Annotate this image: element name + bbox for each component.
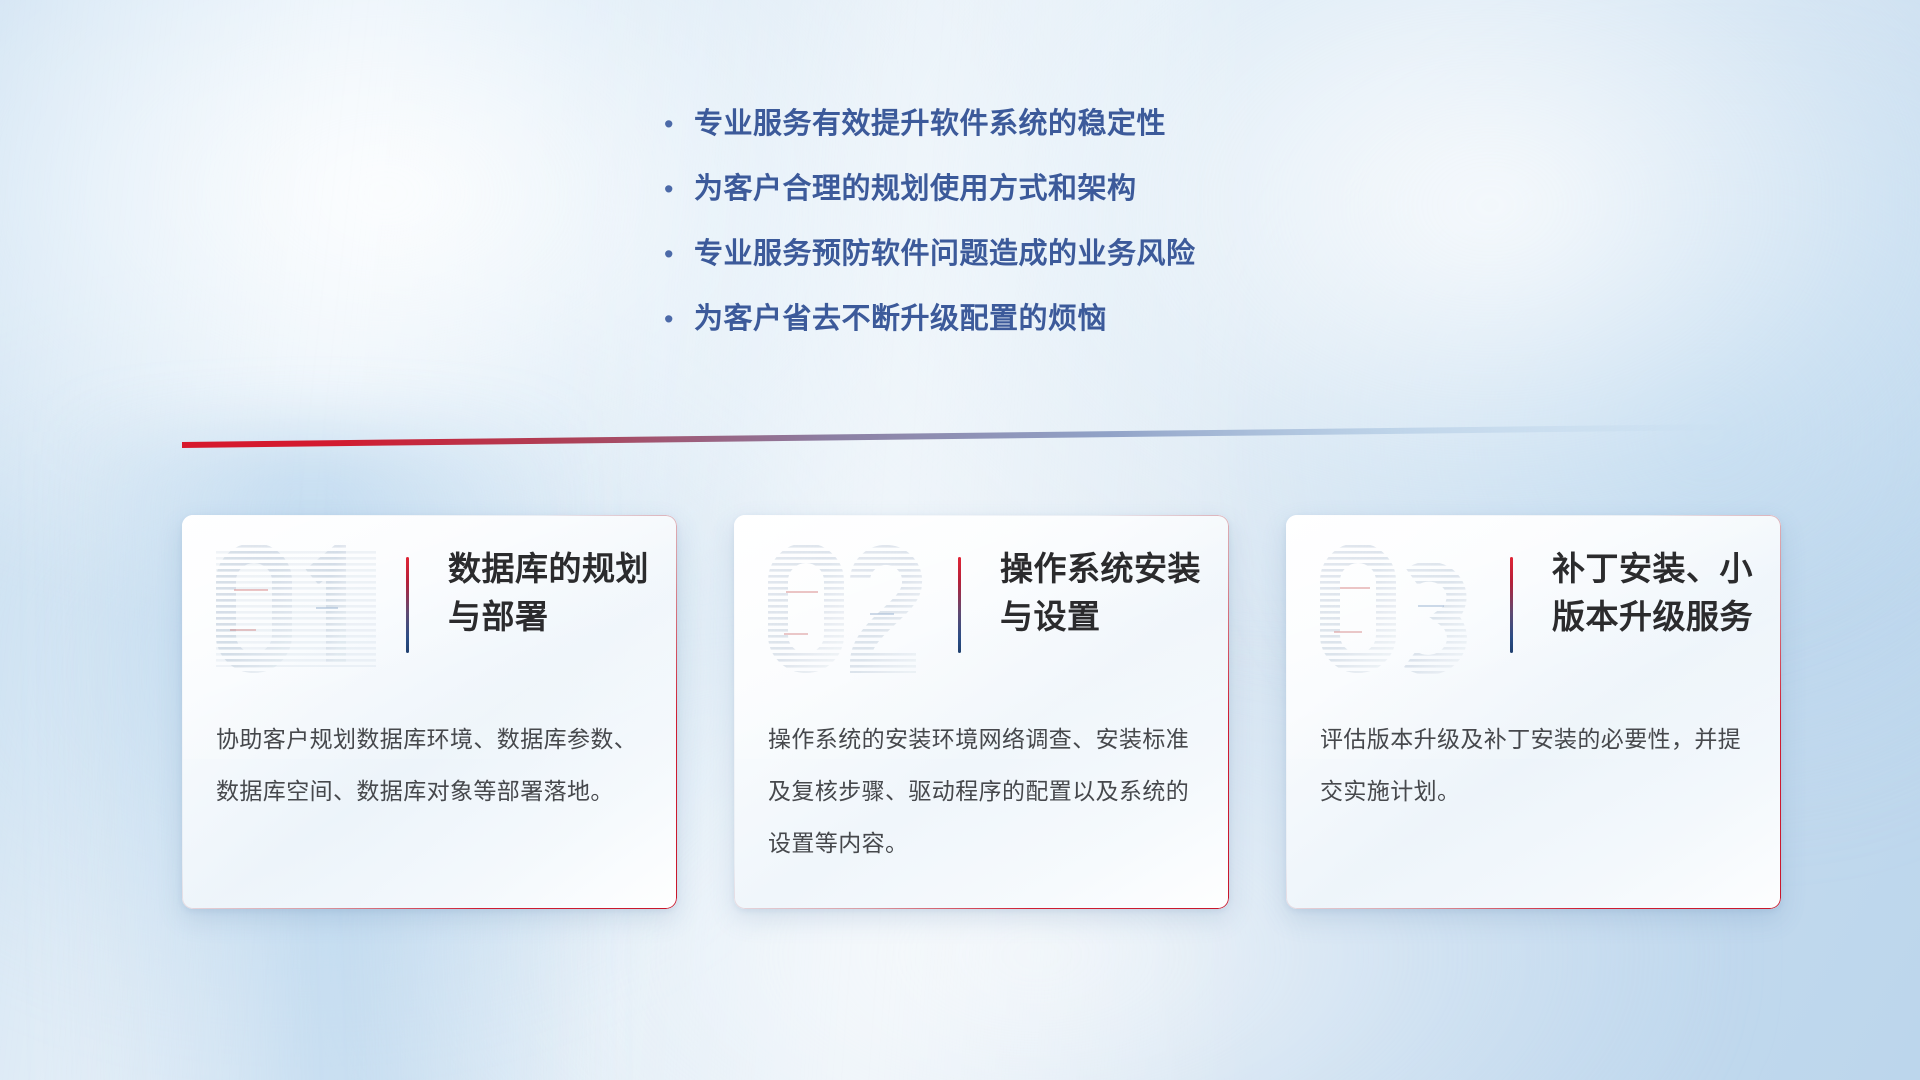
bullet-dot-icon: • — [660, 169, 694, 209]
card-header: 操作系统安装与设置 — [734, 527, 1229, 687]
card-accent-divider — [958, 557, 961, 653]
ghost-number-03-icon — [1308, 533, 1494, 681]
bullet-text: 专业服务有效提升软件系统的稳定性 — [694, 104, 1166, 144]
card-description: 协助客户规划数据库环境、数据库参数、数据库空间、数据库对象等部署落地。 — [216, 713, 648, 817]
ghost-number-02-icon — [756, 533, 942, 681]
card-title: 补丁安装、小版本升级服务 — [1552, 545, 1764, 641]
list-item: • 专业服务预防软件问题造成的业务风险 — [660, 234, 1420, 299]
card-accent-divider — [1510, 557, 1513, 653]
card-header: 数据库的规划与部署 — [182, 527, 677, 687]
benefit-bullet-list: • 专业服务有效提升软件系统的稳定性 • 为客户合理的规划使用方式和架构 • 专… — [660, 104, 1420, 364]
card-header: 补丁安装、小版本升级服务 — [1286, 527, 1781, 687]
list-item: • 专业服务有效提升软件系统的稳定性 — [660, 104, 1420, 169]
list-item: • 为客户省去不断升级配置的烦恼 — [660, 299, 1420, 364]
list-item: • 为客户合理的规划使用方式和架构 — [660, 169, 1420, 234]
bullet-text: 专业服务预防软件问题造成的业务风险 — [694, 234, 1196, 274]
section-divider — [182, 424, 1727, 450]
bullet-text: 为客户合理的规划使用方式和架构 — [694, 169, 1137, 209]
service-card-02[interactable]: 操作系统安装与设置 操作系统的安装环境网络调查、安装标准及复核步骤、驱动程序的配… — [734, 515, 1229, 909]
card-title: 数据库的规划与部署 — [448, 545, 660, 641]
card-description: 评估版本升级及补丁安装的必要性，并提交实施计划。 — [1320, 713, 1752, 817]
service-card-03[interactable]: 补丁安装、小版本升级服务 评估版本升级及补丁安装的必要性，并提交实施计划。 — [1286, 515, 1781, 909]
bullet-dot-icon: • — [660, 234, 694, 274]
card-title: 操作系统安装与设置 — [1000, 545, 1212, 641]
ghost-number-01-icon — [204, 533, 390, 681]
bullet-text: 为客户省去不断升级配置的烦恼 — [694, 299, 1107, 339]
card-description: 操作系统的安装环境网络调查、安装标准及复核步骤、驱动程序的配置以及系统的设置等内… — [768, 713, 1200, 869]
bullet-dot-icon: • — [660, 104, 694, 144]
bullet-dot-icon: • — [660, 299, 694, 339]
card-accent-divider — [406, 557, 409, 653]
divider-shape-icon — [182, 424, 1727, 450]
service-card-01[interactable]: 数据库的规划与部署 协助客户规划数据库环境、数据库参数、数据库空间、数据库对象等… — [182, 515, 677, 909]
service-card-list: 数据库的规划与部署 协助客户规划数据库环境、数据库参数、数据库空间、数据库对象等… — [182, 515, 1782, 915]
